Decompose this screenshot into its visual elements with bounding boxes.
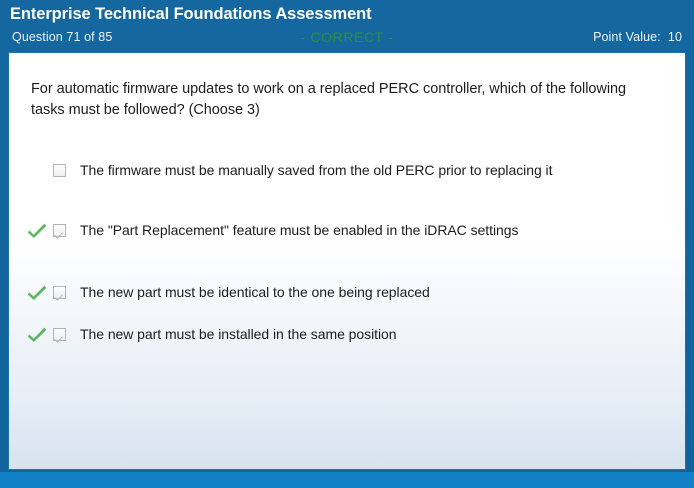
answer-option-row[interactable]: The new part must be identical to the on… (9, 277, 685, 307)
answer-checkbox[interactable] (53, 286, 66, 299)
answer-checkbox[interactable] (53, 164, 66, 177)
answer-checkbox[interactable] (53, 224, 66, 237)
correct-check-icon (27, 221, 47, 239)
status-badge-correct: - CORRECT - (0, 25, 694, 49)
answer-option-label: The new part must be identical to the on… (80, 283, 430, 302)
correct-check-icon (27, 325, 47, 343)
correct-check-icon-placeholder (27, 161, 47, 179)
status-row: Question 71 of 85 - CORRECT - Point Valu… (0, 25, 694, 49)
assessment-header: Enterprise Technical Foundations Assessm… (0, 0, 694, 49)
quiz-window: Enterprise Technical Foundations Assessm… (0, 0, 694, 488)
page-title: Enterprise Technical Foundations Assessm… (0, 2, 694, 25)
answer-options-list: The firmware must be manually saved from… (9, 155, 685, 349)
answer-option-label: The firmware must be manually saved from… (80, 161, 552, 180)
point-value-label: Point Value: 10 (593, 25, 682, 49)
answer-checkbox[interactable] (53, 328, 66, 341)
answer-option-label: The new part must be installed in the sa… (80, 325, 397, 344)
question-text: For automatic firmware updates to work o… (9, 53, 685, 121)
question-panel: For automatic firmware updates to work o… (8, 52, 686, 470)
correct-check-icon (27, 283, 47, 301)
answer-option-row[interactable]: The firmware must be manually saved from… (9, 155, 685, 185)
answer-option-row[interactable]: The new part must be installed in the sa… (9, 319, 685, 349)
answer-option-label: The "Part Replacement" feature must be e… (80, 221, 518, 240)
bottom-bar (0, 472, 694, 488)
answer-option-row[interactable]: The "Part Replacement" feature must be e… (9, 215, 685, 245)
